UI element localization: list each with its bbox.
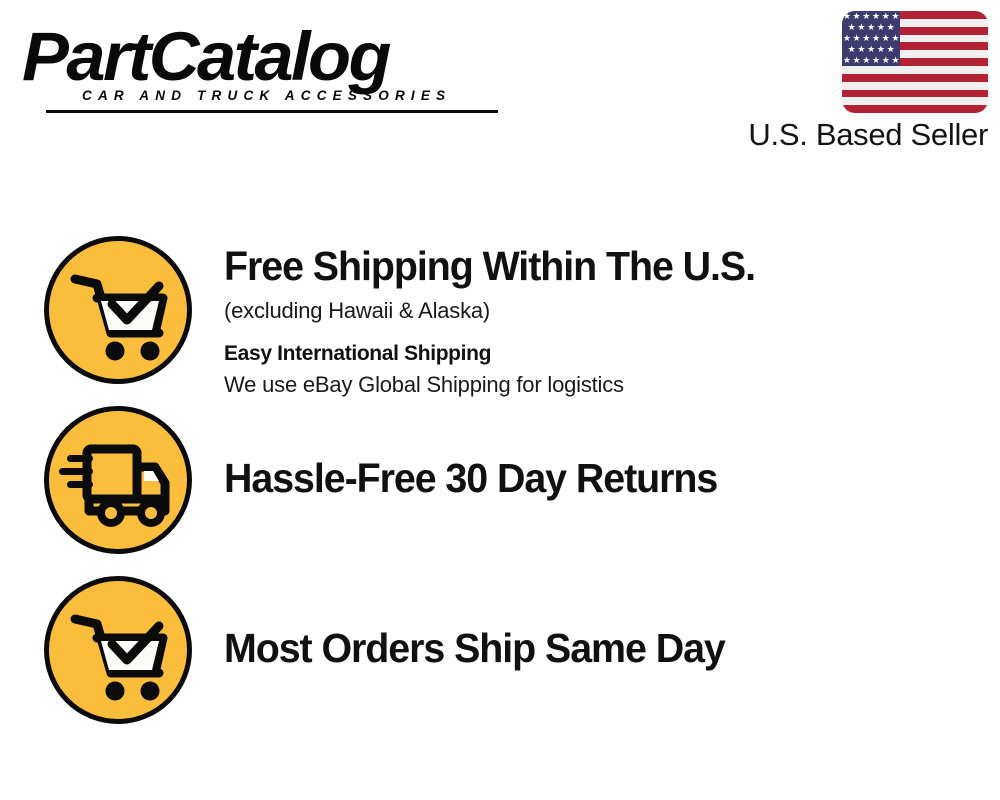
- flag-star-icon: ★: [886, 23, 895, 32]
- flag-star-icon: ★: [891, 56, 900, 65]
- feature-text-block: Most Orders Ship Same Day: [224, 576, 1000, 672]
- flag-star-icon: ★: [881, 34, 890, 43]
- shopping-cart-check-icon: [44, 576, 192, 724]
- flag-star-icon: ★: [872, 56, 881, 65]
- promo-banner-page: PartCatalog CAR AND TRUCK ACCESSORIES ★★…: [0, 0, 1000, 800]
- flag-star-icon: ★: [891, 34, 900, 43]
- flag-star-icon: ★: [842, 34, 851, 43]
- flag-star-icon: ★: [881, 56, 890, 65]
- flag-star-icon: ★: [881, 12, 890, 21]
- us-based-seller-label: U.S. Based Seller: [748, 117, 988, 153]
- flag-star-icon: ★: [886, 45, 895, 54]
- feature-secondary-subtext: We use eBay Global Shipping for logistic…: [224, 370, 1000, 400]
- feature-text-block: Hassle-Free 30 Day Returns: [224, 406, 1000, 502]
- banner-header: PartCatalog CAR AND TRUCK ACCESSORIES ★★…: [0, 0, 1000, 180]
- flag-star-icon: ★: [852, 56, 861, 65]
- feature-row: Hassle-Free 30 Day Returns: [0, 406, 1000, 576]
- flag-star-icon: ★: [876, 45, 885, 54]
- shopping-cart-check-icon: [44, 236, 192, 384]
- feature-subtext: (excluding Hawaii & Alaska): [224, 296, 1000, 326]
- flag-star-icon: ★: [847, 45, 856, 54]
- feature-row: Free Shipping Within The U.S. (excluding…: [0, 236, 1000, 406]
- brand-logo: PartCatalog CAR AND TRUCK ACCESSORIES: [22, 22, 492, 114]
- brand-wordmark: PartCatalog: [22, 22, 501, 92]
- feature-row: Most Orders Ship Same Day: [0, 576, 1000, 746]
- flag-star-icon: ★: [872, 12, 881, 21]
- flag-star-icon: ★: [876, 23, 885, 32]
- flag-stripe: [842, 74, 988, 82]
- flag-stripe: [842, 105, 988, 113]
- flag-star-icon: ★: [862, 12, 871, 21]
- flag-star-icon: ★: [867, 23, 876, 32]
- feature-heading: Most Orders Ship Same Day: [224, 624, 969, 672]
- feature-heading: Free Shipping Within The U.S.: [224, 242, 969, 290]
- us-flag-graphic: ★★★★★★★★★★★★★★★★★★★★★★★★★★★★: [842, 11, 988, 113]
- us-flag-icon: ★★★★★★★★★★★★★★★★★★★★★★★★★★★★: [842, 11, 988, 113]
- brand-underline-rule: [46, 110, 498, 113]
- flag-star-icon: ★: [872, 34, 881, 43]
- brand-tagline: CAR AND TRUCK ACCESSORIES: [82, 88, 451, 103]
- flag-star-icon: ★: [852, 34, 861, 43]
- flag-star-icon: ★: [857, 45, 866, 54]
- flag-stripe: [842, 90, 988, 98]
- flag-star-icon: ★: [847, 23, 856, 32]
- flag-star-icon: ★: [857, 23, 866, 32]
- flag-star-icon: ★: [842, 56, 851, 65]
- feature-text-block: Free Shipping Within The U.S. (excluding…: [224, 236, 1000, 400]
- flag-star-icon: ★: [842, 12, 851, 21]
- flag-star-icon: ★: [852, 12, 861, 21]
- feature-secondary-heading: Easy International Shipping: [224, 340, 1000, 368]
- feature-heading: Hassle-Free 30 Day Returns: [224, 454, 969, 502]
- delivery-truck-icon: [44, 406, 192, 554]
- flag-star-icon: ★: [867, 45, 876, 54]
- flag-star-icon: ★: [862, 34, 871, 43]
- flag-star-icon: ★: [891, 12, 900, 21]
- flag-star-icon: ★: [862, 56, 871, 65]
